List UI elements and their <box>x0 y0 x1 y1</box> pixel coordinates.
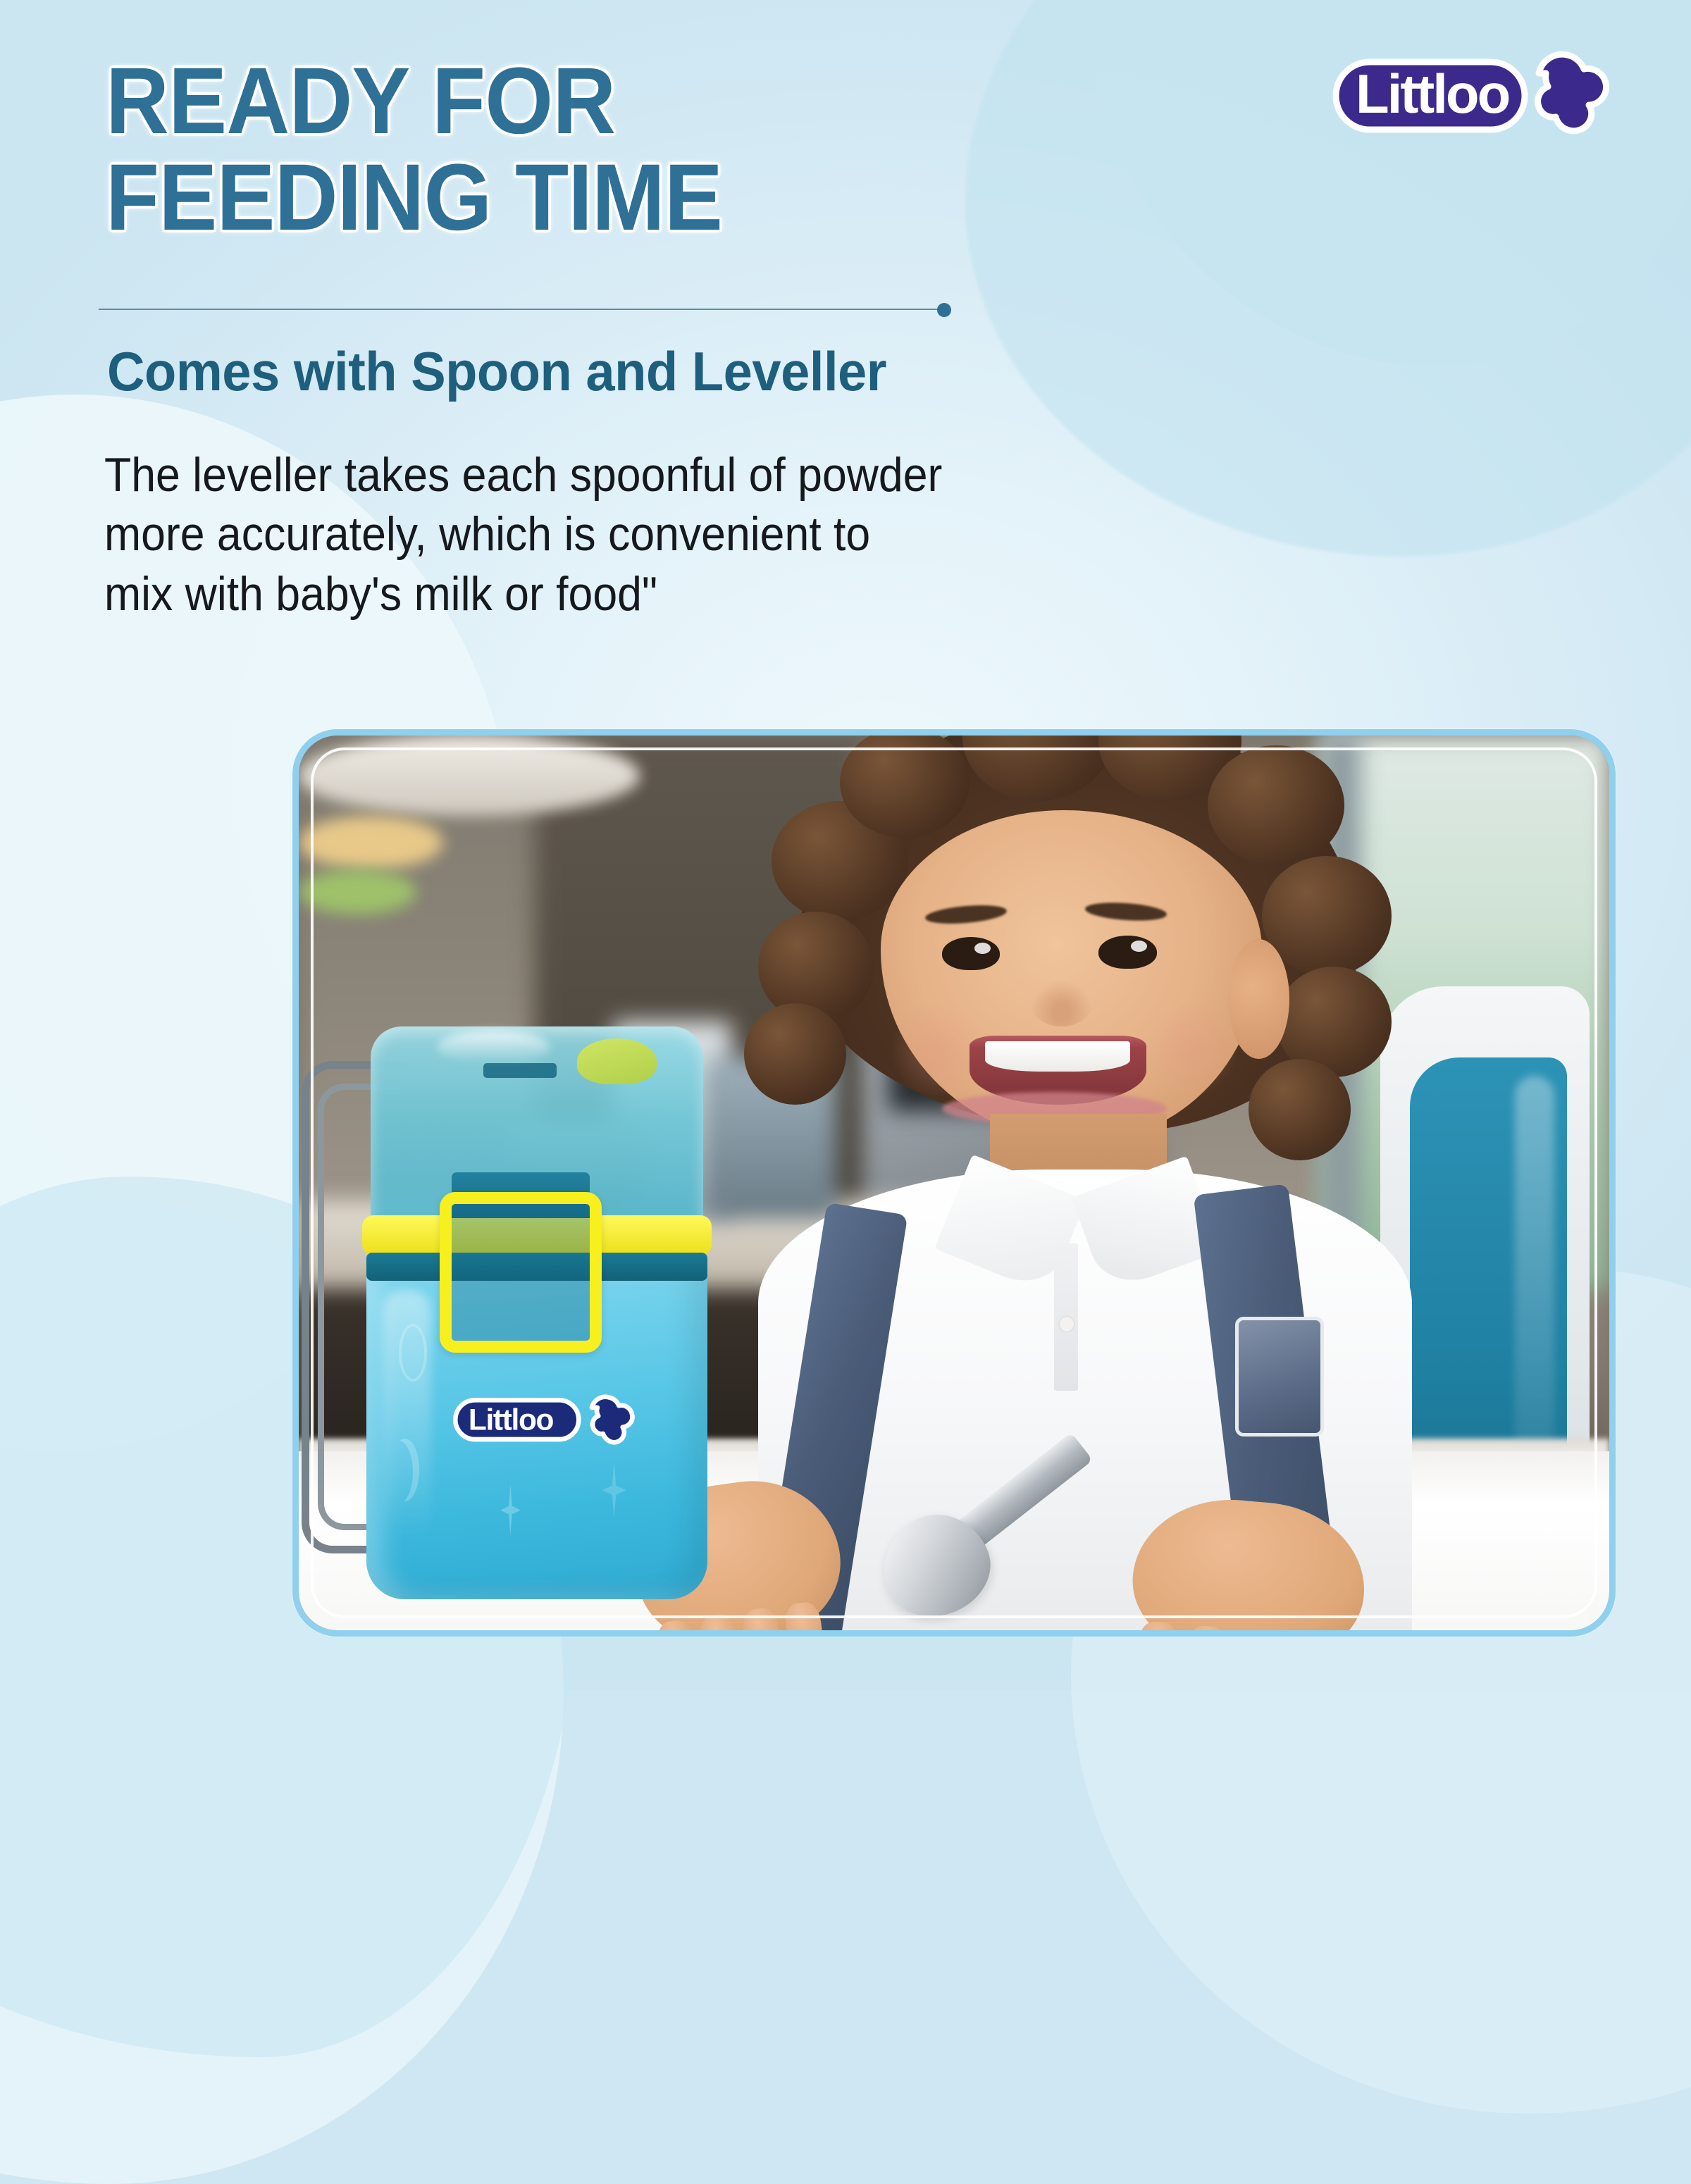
body-copy: The leveller takes each spoonful of powd… <box>104 445 942 623</box>
hair-curl <box>744 1003 846 1105</box>
body-line-2: more accurately, which is convenient to <box>104 504 942 564</box>
container-pattern-circle <box>399 1324 427 1381</box>
body-line-3: mix with baby's milk or food" <box>104 564 942 623</box>
product-littloo-logo: Littloo <box>452 1382 638 1456</box>
subheading: Comes with Spoon and Leveller <box>107 340 886 404</box>
hair-curl <box>758 912 874 1022</box>
finger <box>741 1606 782 1630</box>
page-title: READY FOR FEEDING TIME <box>106 54 925 246</box>
finger <box>1232 1629 1276 1630</box>
divider-line <box>99 309 941 310</box>
brand-logo: Littloo <box>1327 42 1630 148</box>
hair-curl <box>1208 745 1344 865</box>
divider <box>99 303 951 317</box>
shirt-button <box>1060 1317 1073 1332</box>
littloo-logo-icon: Littloo <box>1327 42 1630 148</box>
finger <box>783 1601 824 1630</box>
leveller-inside <box>483 1063 557 1077</box>
divider-dot <box>937 303 951 317</box>
headline-line-2: FEEDING TIME <box>106 150 925 247</box>
child-eye-right <box>1098 936 1156 969</box>
hair-curl <box>1262 856 1392 976</box>
svg-text:Littloo: Littloo <box>1356 63 1509 125</box>
spoon-inside <box>577 1038 657 1084</box>
kitchen-food-a <box>299 816 443 869</box>
product-container: Littloo <box>305 1026 712 1599</box>
body-line-1: The leveller takes each spoonful of powd… <box>104 445 942 504</box>
svg-text:Littloo: Littloo <box>469 1403 554 1436</box>
finger <box>655 1618 697 1630</box>
photo-scene: Littloo <box>299 736 1609 1630</box>
child-nose <box>1031 981 1092 1026</box>
container-latch <box>440 1192 602 1353</box>
headline-line-1: READY FOR <box>106 54 925 150</box>
child-teeth <box>985 1041 1130 1072</box>
lid-gloss <box>437 1031 550 1064</box>
finger <box>698 1613 740 1630</box>
finger <box>1184 1625 1228 1630</box>
hair-curl <box>1249 1059 1351 1160</box>
kitchen-food-b <box>299 869 416 914</box>
product-logo-icon: Littloo <box>452 1382 638 1456</box>
child-eye-left <box>942 937 1000 970</box>
container-pattern-moon <box>390 1439 419 1501</box>
product-photo-card: Littloo <box>292 729 1616 1637</box>
child-cheek-right <box>1139 1003 1241 1096</box>
kitchen-plate <box>299 736 640 816</box>
harness-buckle <box>1235 1317 1324 1437</box>
